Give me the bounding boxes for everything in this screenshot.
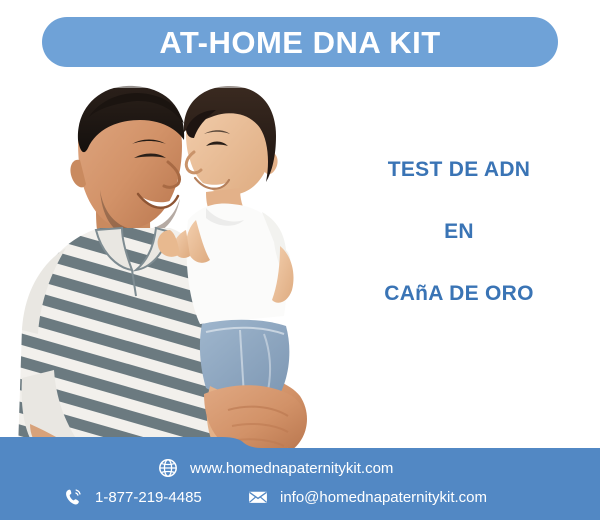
poster-canvas: AT-HOME DNA KIT xyxy=(0,0,600,520)
photo-illustration xyxy=(0,78,340,450)
footer-content: www.homednapaternitykit.com 1-877-219-44… xyxy=(0,437,600,520)
headline-line-3: CAñA DE ORO xyxy=(330,282,588,306)
footer-website[interactable]: www.homednapaternitykit.com xyxy=(158,458,393,478)
footer-email[interactable]: info@homednapaternitykit.com xyxy=(248,487,487,507)
father-and-child-photo xyxy=(0,78,340,450)
headline-line-1: TEST DE ADN xyxy=(330,158,588,182)
footer-email-text: info@homednapaternitykit.com xyxy=(280,489,487,506)
footer-website-text: www.homednapaternitykit.com xyxy=(190,460,393,477)
footer-phone-text: 1-877-219-4485 xyxy=(95,489,202,506)
phone-icon xyxy=(63,487,83,507)
footer-bar: www.homednapaternitykit.com 1-877-219-44… xyxy=(0,437,600,520)
headline-line-2: EN xyxy=(330,220,588,244)
footer-phone[interactable]: 1-877-219-4485 xyxy=(63,487,202,507)
headline-block: TEST DE ADN EN CAñA DE ORO xyxy=(330,158,588,306)
envelope-icon xyxy=(248,487,268,507)
page-title: AT-HOME DNA KIT xyxy=(159,27,440,58)
globe-icon xyxy=(158,458,178,478)
title-badge: AT-HOME DNA KIT xyxy=(42,17,558,67)
